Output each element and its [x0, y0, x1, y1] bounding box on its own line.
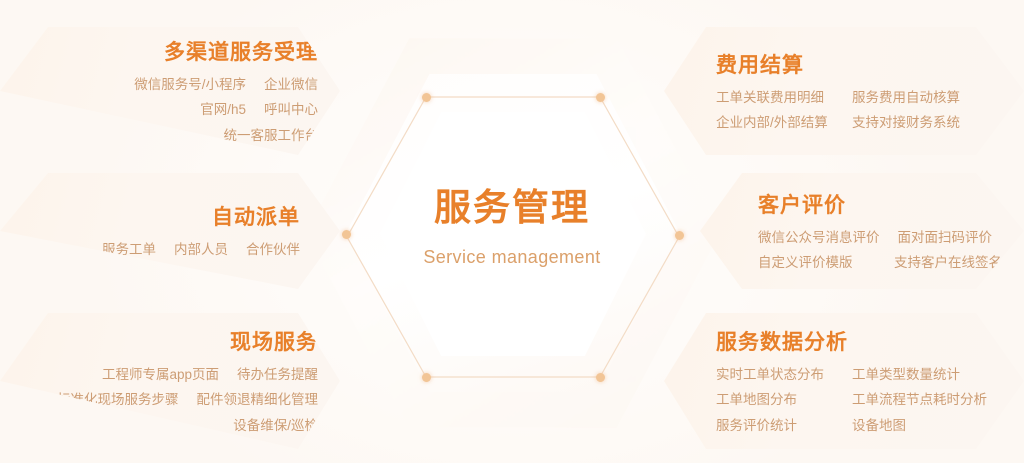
panel-settlement-tags: 工单关联费用明细 服务费用自动核算 企业内部/外部结算 支持对接财务系统	[716, 88, 960, 134]
tag: 实时工单状态分布	[716, 365, 834, 385]
tag-row: 微信公众号消息评价 面对面扫码评价	[758, 228, 1002, 248]
panel-settlement[interactable]: 费用结算 工单关联费用明细 服务费用自动核算 企业内部/外部结算 支持对接财务系…	[664, 27, 1024, 155]
panel-evaluation[interactable]: 客户评价 微信公众号消息评价 面对面扫码评价 自定义评价模版 支持客户在线签名	[700, 173, 1024, 289]
panel-multichannel[interactable]: 多渠道服务受理 微信服务号/小程序 企业微信 官网/h5 呼叫中心 统一客服工作…	[0, 27, 340, 155]
tag-row: 工单关联费用明细 服务费用自动核算	[716, 88, 960, 108]
panel-dispatch-title: 自动派单	[212, 201, 300, 231]
tag: 合作伙伴	[246, 240, 300, 260]
panel-onsite[interactable]: 现场服务 工程师专属app页面 待办任务提醒 标准化现场服务步骤 配件领退精细化…	[0, 313, 340, 449]
panel-dispatch-tags: 服务工单 内部人员 合作伙伴	[102, 240, 300, 260]
tag: 服务费用自动核算	[852, 88, 960, 108]
panel-onsite-tags: 工程师专属app页面 待办任务提醒 标准化现场服务步骤 配件领退精细化管理 设备…	[57, 365, 318, 436]
panel-dispatch[interactable]: 自动派单 服务工单 内部人员 合作伙伴	[0, 173, 340, 289]
tag: 工单关联费用明细	[716, 88, 834, 108]
tag: 呼叫中心	[264, 100, 318, 120]
tag: 服务工单	[102, 240, 156, 260]
tag-row: 工单地图分布 工单流程节点耗时分析	[716, 390, 987, 410]
hexagon-mid-shape	[346, 74, 680, 392]
panel-settlement-title: 费用结算	[716, 49, 804, 79]
panel-analytics[interactable]: 服务数据分析 实时工单状态分布 工单类型数量统计 工单地图分布 工单流程节点耗时…	[664, 313, 1024, 449]
hexagon-vertex-dot-bottom-left	[422, 373, 431, 382]
infographic-stage: 服务管理 Service management 多渠道服务受理 微信服务号/小程…	[0, 0, 1024, 463]
tag-row: 官网/h5 呼叫中心	[134, 100, 318, 120]
hexagon-vertex-dot-top-left	[422, 93, 431, 102]
tag: 支持对接财务系统	[852, 113, 960, 133]
center-subtitle: Service management	[362, 247, 662, 268]
tag: 配件领退精细化管理	[197, 390, 319, 410]
hexagon-vertex-dot-left	[342, 230, 351, 239]
tag: 官网/h5	[200, 100, 246, 120]
panel-onsite-title: 现场服务	[230, 326, 318, 356]
tag: 内部人员	[174, 240, 228, 260]
hexagon-outline	[340, 90, 686, 384]
tag-row: 实时工单状态分布 工单类型数量统计	[716, 365, 987, 385]
tag: 自定义评价模版	[758, 253, 876, 273]
tag: 设备维保/巡检	[233, 416, 318, 436]
panel-analytics-tags: 实时工单状态分布 工单类型数量统计 工单地图分布 工单流程节点耗时分析 服务评价…	[716, 365, 987, 436]
panel-evaluation-tags: 微信公众号消息评价 面对面扫码评价 自定义评价模版 支持客户在线签名	[758, 228, 1002, 274]
tag: 工程师专属app页面	[102, 365, 219, 385]
tag-row: 标准化现场服务步骤 配件领退精细化管理	[57, 390, 318, 410]
tag: 待办任务提醒	[237, 365, 318, 385]
tag: 支持客户在线签名	[894, 253, 1002, 273]
tag: 企业微信	[264, 75, 318, 95]
tag-row: 工程师专属app页面 待办任务提醒	[57, 365, 318, 385]
tag-row: 设备维保/巡检	[57, 416, 318, 436]
tag: 标准化现场服务步骤	[57, 390, 179, 410]
tag-row: 服务评价统计 设备地图	[716, 416, 987, 436]
tag-row: 统一客服工作台	[134, 126, 318, 146]
tag: 微信公众号消息评价	[758, 228, 880, 248]
tag: 工单地图分布	[716, 390, 834, 410]
tag-row: 企业内部/外部结算 支持对接财务系统	[716, 113, 960, 133]
hexagon-vertex-dot-bottom-right	[596, 373, 605, 382]
panel-multichannel-title: 多渠道服务受理	[164, 36, 318, 66]
tag: 企业内部/外部结算	[716, 113, 834, 133]
hexagon-vertex-dot-top-right	[596, 93, 605, 102]
tag: 微信服务号/小程序	[134, 75, 246, 95]
hexagon-inner-shape	[380, 112, 646, 356]
tag-row: 服务工单 内部人员 合作伙伴	[102, 240, 300, 260]
tag-row: 微信服务号/小程序 企业微信	[134, 75, 318, 95]
tag: 面对面扫码评价	[898, 228, 993, 248]
panel-analytics-title: 服务数据分析	[716, 326, 848, 356]
tag-row: 自定义评价模版 支持客户在线签名	[758, 253, 1002, 273]
tag: 设备地图	[852, 416, 906, 436]
tag: 统一客服工作台	[224, 126, 319, 146]
hexagon-vertex-dot-right	[675, 231, 684, 240]
panel-evaluation-title: 客户评价	[758, 189, 846, 219]
tag: 服务评价统计	[716, 416, 834, 436]
panel-multichannel-tags: 微信服务号/小程序 企业微信 官网/h5 呼叫中心 统一客服工作台	[134, 75, 318, 146]
tag: 工单流程节点耗时分析	[852, 390, 987, 410]
tag: 工单类型数量统计	[852, 365, 960, 385]
hexagon-outer-glow	[306, 38, 720, 428]
center-title: 服务管理	[362, 188, 662, 229]
